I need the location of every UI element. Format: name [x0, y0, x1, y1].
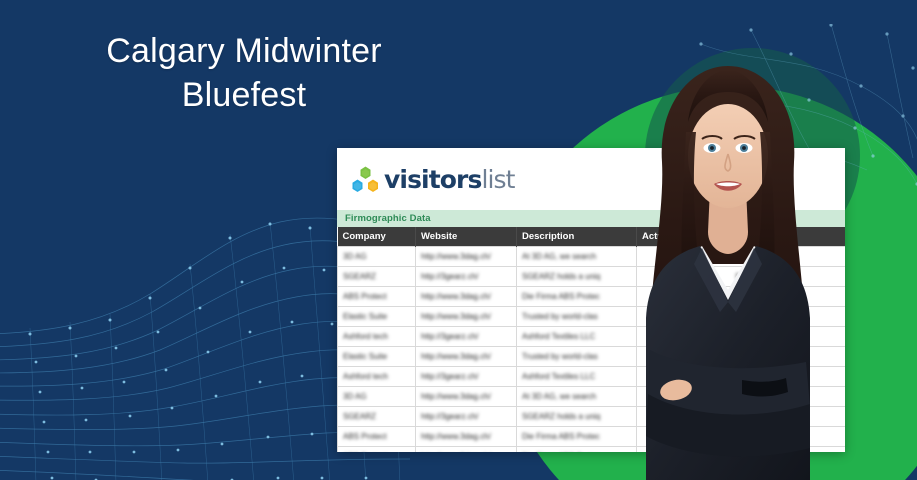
promo-banner: Calgary Midwinter Bluefest visitorslist …	[0, 0, 917, 480]
logo-word-secondary: list	[481, 165, 514, 194]
cell-description: Die Firma ABS Protec	[517, 287, 637, 307]
cell-description: SGEARZ holds a uniq	[517, 267, 637, 287]
cell-company: SGEARZ	[338, 407, 416, 427]
businesswoman-photo	[624, 50, 832, 480]
page-title: Calgary Midwinter Bluefest	[44, 30, 444, 117]
hexagon-logo-icon	[350, 165, 381, 194]
cell-website: http://www.3dag.ch/	[416, 307, 517, 327]
column-header-website[interactable]: Website	[416, 227, 517, 247]
cell-company: SGEARZ	[338, 267, 416, 287]
cell-website: http://www.3dag.ch/	[416, 447, 517, 453]
cell-website: http://3gearz.ch/	[416, 267, 517, 287]
cell-company: Ashford tech	[338, 367, 416, 387]
column-header-description[interactable]: Description	[517, 227, 637, 247]
cell-website: http://www.3dag.ch/	[416, 287, 517, 307]
logo-wordmark: visitorslist	[384, 167, 515, 192]
title-line-1: Calgary Midwinter	[44, 30, 444, 74]
cell-website: http://3gearz.ch/	[416, 327, 517, 347]
cell-company: Elastic Suite	[338, 347, 416, 367]
cell-website: http://www.3dag.ch/	[416, 247, 517, 267]
cell-description: SGEARZ holds a uniq	[517, 407, 637, 427]
cell-company: 3D AG	[338, 387, 416, 407]
title-line-2: Bluefest	[44, 74, 444, 118]
cell-company: ABS Protect	[338, 427, 416, 447]
cell-description: Die Firma ABS Protec	[517, 427, 637, 447]
cell-website: http://3gearz.ch/	[416, 367, 517, 387]
cell-website: http://www.3dag.ch/	[416, 387, 517, 407]
column-header-company[interactable]: Company	[338, 227, 416, 247]
cell-website: http://www.3dag.ch/	[416, 347, 517, 367]
cell-description: Ashford Textiles LLC	[517, 367, 637, 387]
cell-website: http://3gearz.ch/	[416, 407, 517, 427]
cell-description: At 3D AG, we search	[517, 387, 637, 407]
cell-description: Ashford Textiles LLC	[517, 327, 637, 347]
cell-website: http://www.3dag.ch/	[416, 427, 517, 447]
cell-company: Ashford tech	[338, 327, 416, 347]
cell-description: Die Firma ABS Protec	[517, 447, 637, 453]
cell-company: ABS Protect	[338, 287, 416, 307]
logo-word-primary: visitors	[384, 165, 481, 194]
cell-company: Elastic Suite	[338, 307, 416, 327]
cell-description: Trusted by world-clas	[517, 347, 637, 367]
cell-description: Trusted by world-clas	[517, 307, 637, 327]
cell-company: ABS Protect	[338, 447, 416, 453]
cell-description: At 3D AG, we search	[517, 247, 637, 267]
cell-company: 3D AG	[338, 247, 416, 267]
